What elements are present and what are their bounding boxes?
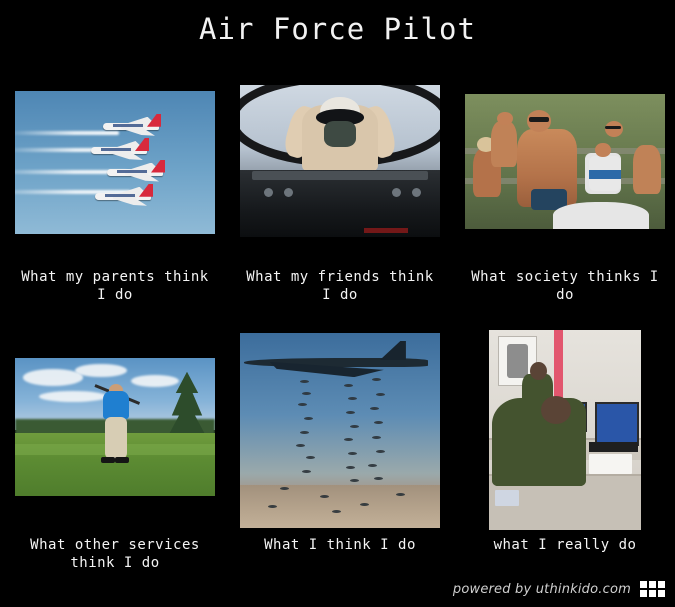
panel-image-society [465,94,665,229]
hud-indicator [364,228,408,233]
golfer-shirt [103,391,129,419]
foreground-white-shorts [553,202,649,229]
sky-background [15,91,215,234]
page-title: Air Force Pilot [0,12,675,46]
panel-image-other-services [15,358,215,496]
panel-caption-i-think: What I think I do [230,536,450,554]
instrument-panel [240,170,440,237]
meme-canvas: Air Force Pilot What my parents think I … [0,0,675,607]
airman-head-back [530,362,547,380]
panel-caption-parents: What my parents think I do [5,268,225,304]
airman-front [492,398,586,486]
paper-sheet [495,490,519,506]
powered-by-label[interactable]: powered by uthinkido.com [453,582,631,597]
laptop-base-front [589,442,638,452]
panel-image-friends [240,85,440,237]
panel-caption-other-services: What other services think I do [5,536,225,572]
panel-image-parents [15,91,215,234]
golfer-pants [105,417,127,458]
footer: powered by uthinkido.com [453,581,665,597]
paper-sheet [589,454,632,474]
panel-image-really-do [489,330,641,530]
panel-image-i-think [240,333,440,528]
panel-caption-society: What society thinks I do [455,268,675,304]
laptop-screen-front [595,402,639,446]
panel-caption-friends: What my friends think I do [230,268,450,304]
bomber-aircraft [244,345,428,378]
oxygen-mask [324,121,356,147]
grid-icon[interactable] [640,581,665,597]
panel-caption-really-do: what I really do [455,536,675,554]
airman-head-front [541,396,571,424]
